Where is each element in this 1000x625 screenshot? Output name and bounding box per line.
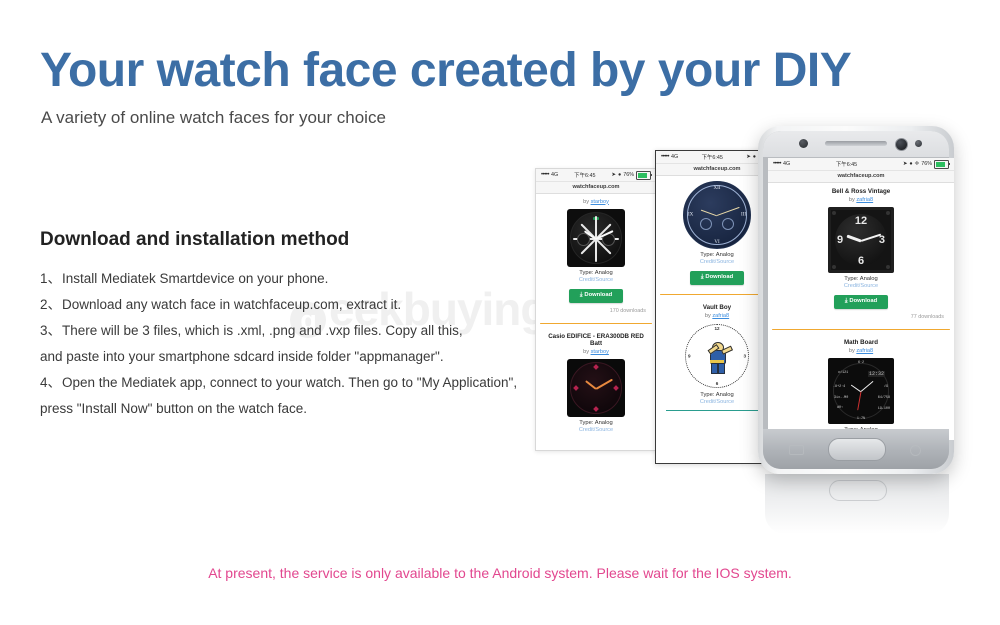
step-text: press "Install Now" button on the watch … (40, 401, 307, 416)
download-icon: ⤓ (701, 274, 704, 280)
watch-face-card: by starboy Type: Analog Credit/Source ⤓D… (536, 194, 656, 318)
watch-face-card: Casio EDIFICE - ERA300DB RED Batt by sta… (536, 328, 656, 437)
download-button[interactable]: ⤓Download (834, 295, 888, 309)
location-icon: ➤ (611, 172, 616, 178)
download-button[interactable]: ⤓Download (569, 289, 623, 303)
status-bar: ••••• 4G 下午6:45 ➤ ● 76% (536, 169, 656, 182)
page-subtitle: A variety of online watch faces for your… (41, 108, 386, 128)
clock-label: 下午6:45 (574, 171, 595, 179)
battery-percent-label: 76% (623, 172, 634, 178)
network-label: 4G (551, 172, 558, 178)
watch-face-title: Bell & Ross Vintage (774, 188, 948, 195)
recents-key-icon[interactable] (789, 445, 804, 455)
status-bar: ••••• 4G 下午6:45 ➤ ● ✛ 76% (768, 158, 954, 171)
watch-face-author: by starboy (542, 199, 650, 205)
instruction-step-continuation: press "Install Now" button on the watch … (40, 396, 530, 422)
section-divider (666, 410, 768, 411)
promo-banner: geekbuying Your watch face created by yo… (0, 0, 1000, 625)
watch-face-title: Math Board (774, 339, 948, 346)
instruction-step-continuation: and paste into your smartphone sdcard in… (40, 344, 530, 370)
battery-icon (934, 160, 949, 169)
step-text: Open the Mediatek app, connect to your w… (62, 375, 517, 390)
watch-face-image-casio-red (567, 359, 625, 417)
step-number: 3、 (40, 318, 62, 344)
step-text: Install Mediatek Smartdevice on your pho… (62, 271, 328, 286)
watch-face-card: Bell & Ross Vintage by zafria8 12 3 6 9 … (768, 183, 954, 324)
watch-face-title: Vault Boy (662, 304, 772, 311)
signal-dots-icon: ••••• (661, 154, 669, 160)
phone-reflection (765, 474, 949, 534)
watch-face-image-bell-ross: 12 3 6 9 (828, 207, 894, 273)
alarm-icon: ● (618, 172, 621, 178)
battery-icon (636, 171, 651, 180)
availability-note: At present, the service is only availabl… (0, 565, 1000, 581)
watch-face-credit-link[interactable]: Credit/Source (662, 399, 772, 405)
url-bar[interactable]: watchfaceup.com (536, 182, 656, 194)
watch-face-card: Math Board by zafria8 6·2 ∞√121 12:32 -8… (768, 334, 954, 437)
step-text: There will be 3 files, which is .xml, .p… (62, 323, 463, 338)
step-text: Download any watch face in watchfaceup.c… (62, 297, 401, 312)
watch-face-type: Type: Analog (662, 392, 772, 398)
location-icon: ➤ (746, 154, 751, 160)
url-bar[interactable]: watchfaceup.com (768, 171, 954, 183)
watch-face-author: by zafria8 (774, 197, 948, 203)
front-phone-device: ••••• 4G 下午6:45 ➤ ● ✛ 76% watchfaceup.co… (758, 126, 954, 474)
step-number: 1、 (40, 266, 62, 292)
download-icon: ⤓ (845, 298, 848, 304)
watch-face-credit-link[interactable]: Credit/Source (774, 283, 948, 289)
signal-dots-icon: ••••• (541, 172, 549, 178)
watch-face-credit-link[interactable]: Credit/Source (662, 259, 772, 265)
digital-readout: 12:32 (868, 371, 885, 377)
earpiece-speaker (825, 141, 887, 146)
watch-face-image-vault-boy: 12 3 6 9 (684, 323, 750, 389)
instruction-step: 4、Open the Mediatek app, connect to your… (40, 370, 530, 396)
back-key-icon[interactable] (910, 445, 921, 456)
iris-sensor-icon (915, 140, 922, 147)
author-link[interactable]: starboy (591, 199, 609, 205)
page-title: Your watch face created by your DIY (40, 44, 851, 98)
step-number: 2、 (40, 292, 62, 318)
step-number: 4、 (40, 370, 62, 396)
phone-display: ••••• 4G 下午6:45 ➤ ● ✛ 76% watchfaceup.co… (768, 158, 954, 440)
watch-face-type: Type: Analog (542, 270, 650, 276)
download-count: 170 downloads (542, 308, 650, 314)
clock-label: 下午6:45 (836, 160, 857, 168)
watch-face-type: Type: Analog (774, 276, 948, 282)
phone-body: ••••• 4G 下午6:45 ➤ ● ✛ 76% watchfaceup.co… (763, 131, 949, 469)
section-divider (772, 329, 950, 331)
watch-face-author: by starboy (542, 349, 650, 355)
watch-face-type: Type: Analog (662, 252, 772, 258)
clock-label: 下午6:45 (702, 153, 723, 161)
watch-face-author: by zafria8 (774, 348, 948, 354)
author-link[interactable]: zafria8 (712, 313, 729, 319)
section-title-download-installation: Download and installation method (40, 229, 349, 251)
signal-dots-icon: ••••• (773, 161, 781, 167)
network-label: 4G (671, 154, 678, 160)
watch-face-credit-link[interactable]: Credit/Source (542, 277, 650, 283)
instruction-step: 1、Install Mediatek Smartdevice on your p… (40, 266, 530, 292)
bluetooth-icon: ✛ (915, 161, 920, 167)
download-icon: ⤓ (580, 292, 583, 298)
watch-face-credit-link[interactable]: Credit/Source (542, 427, 650, 433)
watch-face-type: Type: Analog (542, 420, 650, 426)
battery-percent-label: 76% (921, 161, 932, 167)
download-count: 77 downloads (774, 314, 948, 320)
location-icon: ➤ (903, 161, 908, 167)
phone-bottom-bezel (763, 429, 949, 469)
phone-top-bezel (763, 131, 949, 157)
author-link[interactable]: zafria8 (856, 197, 873, 203)
proximity-sensor-icon (799, 139, 808, 148)
section-divider (660, 294, 774, 296)
alarm-icon: ● (909, 161, 912, 167)
download-button[interactable]: ⤓Download (690, 271, 744, 285)
watch-face-image-casio-dark (567, 209, 625, 267)
watch-face-title: Casio EDIFICE - ERA300DB RED Batt (542, 333, 650, 347)
author-link[interactable]: starboy (591, 349, 609, 355)
instruction-step: 3、There will be 3 files, which is .xml, … (40, 318, 530, 344)
instruction-steps-list: 1、Install Mediatek Smartdevice on your p… (40, 266, 530, 422)
home-button[interactable] (828, 438, 886, 461)
section-divider (540, 323, 652, 325)
front-camera-icon (895, 138, 908, 151)
watch-face-image-navy-roman: XII III VI IX (683, 181, 751, 249)
author-link[interactable]: zafria8 (856, 348, 873, 354)
step-text: and paste into your smartphone sdcard in… (40, 349, 444, 364)
network-label: 4G (783, 161, 790, 167)
watch-face-image-math-board: 6·2 ∞√121 12:32 -8+2·4 3ix-.M0 d0‹ √9 64… (828, 358, 894, 424)
alarm-icon: ● (753, 154, 756, 160)
instruction-step: 2、Download any watch face in watchfaceup… (40, 292, 530, 318)
watch-face-author: by zafria8 (662, 313, 772, 319)
phone-screenshot-back: ••••• 4G 下午6:45 ➤ ● 76% watchfaceup.com … (535, 168, 657, 451)
